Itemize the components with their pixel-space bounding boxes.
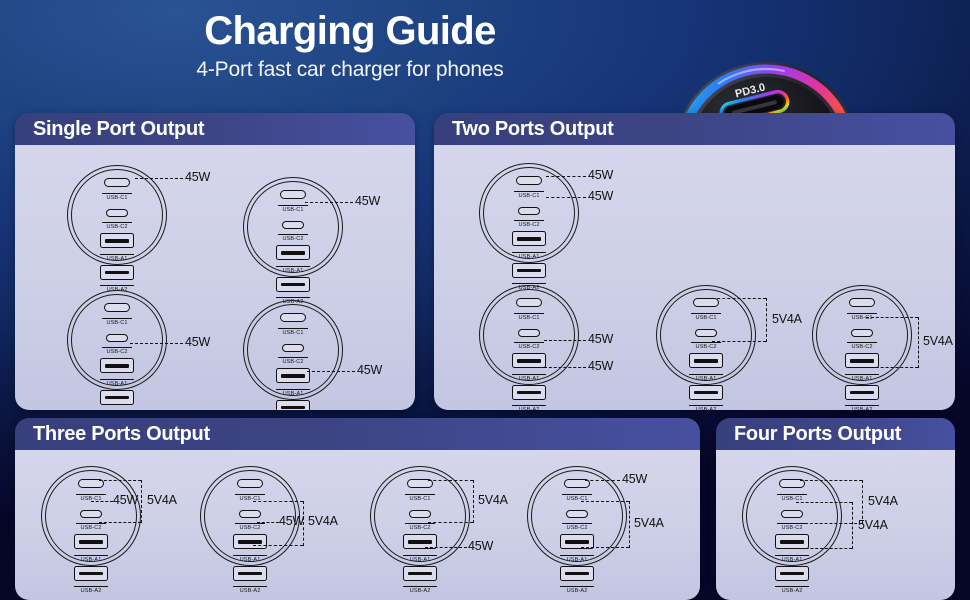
usb-a-port-icon — [100, 390, 134, 405]
leader-line — [585, 480, 620, 481]
panel-title-single: Single Port Output — [15, 113, 415, 145]
usb-a-port-icon — [775, 566, 809, 581]
charger-diagram: USB-C1 USB-C2 USB-A1 USB-A2 — [243, 300, 343, 400]
charger-ports: USB-C1 USB-C2 USB-A1 USB-A2 — [479, 172, 579, 292]
usb-a-port-icon — [689, 385, 723, 400]
usb-c-port-icon — [106, 209, 128, 217]
page-subtitle: 4-Port fast car charger for phones — [0, 52, 700, 82]
port-usb-a1: USB-A1 — [41, 534, 141, 564]
port-label-a2: USB-A2 — [403, 586, 437, 595]
port-usb-c2: USB-C2 — [243, 216, 343, 244]
port-label-a2: USB-A2 — [233, 586, 267, 595]
callout-5v4a: 5V4A — [868, 494, 898, 508]
port-label-a2: USB-A2 — [845, 405, 879, 410]
callout-45w: 45W — [588, 168, 613, 182]
leader-line — [305, 202, 353, 203]
leader-line — [130, 343, 183, 344]
usb-c-port-icon — [282, 221, 304, 229]
bracket-line — [629, 501, 630, 548]
charger-diagram: USB-C1 USB-C2 USB-A1 USB-A2 — [479, 163, 579, 263]
port-usb-a1: USB-A1 — [527, 534, 627, 564]
port-usb-a1: USB-A1 — [67, 233, 167, 263]
leader-line — [796, 548, 852, 549]
usb-a-port-icon — [74, 534, 108, 549]
port-usb-c1: USB-C1 — [200, 475, 300, 503]
leader-line — [866, 317, 918, 318]
port-label-a2: USB-A2 — [775, 586, 809, 595]
callout-5v4a: 5V4A — [772, 312, 802, 326]
port-usb-a1: USB-A1 — [479, 231, 579, 261]
port-usb-a1: USB-A1 — [67, 358, 167, 388]
port-usb-a2: USB-A2 — [527, 566, 627, 596]
usb-a-port-icon — [689, 353, 723, 368]
port-usb-c2: USB-C2 — [812, 324, 912, 352]
port-label-a2: USB-A2 — [74, 586, 108, 595]
port-usb-a1: USB-A1 — [200, 534, 300, 564]
callout-45w: 45W — [588, 189, 613, 203]
callout-45w: 45W — [185, 335, 210, 349]
port-label-c2: USB-C2 — [278, 357, 308, 366]
charger-diagram: USB-C1 USB-C2 USB-A1 USB-A2 — [527, 466, 627, 566]
port-label-c2: USB-C2 — [777, 523, 807, 532]
panel-two-ports-output: Two Ports Output USB-C1 USB-C2 USB-A1 US… — [434, 113, 955, 410]
port-label-a1: USB-A1 — [74, 555, 108, 564]
bracket-line — [303, 501, 304, 546]
usb-c-port-icon — [280, 190, 306, 199]
port-usb-a1: USB-A1 — [243, 368, 343, 398]
usb-c-port-icon — [518, 329, 540, 337]
port-label-c2: USB-C2 — [278, 234, 308, 243]
port-label-c2: USB-C2 — [691, 342, 721, 351]
leader-line — [546, 197, 586, 198]
callout-45w: 45W — [185, 170, 210, 184]
charger-diagram: USB-C1 USB-C2 USB-A1 USB-A2 — [67, 290, 167, 390]
port-label-a2: USB-A2 — [512, 405, 546, 410]
usb-c-port-icon — [282, 344, 304, 352]
usb-a-port-icon — [560, 566, 594, 581]
port-label-a1: USB-A1 — [276, 266, 310, 275]
bracket-line — [766, 298, 767, 342]
charger-ports: USB-C1 USB-C2 USB-A1 USB-A2 — [479, 294, 579, 410]
charging-guide-infographic: Charging Guide 4-Port fast car charger f… — [0, 0, 970, 600]
port-usb-a1: USB-A1 — [243, 245, 343, 275]
leader-line — [544, 340, 586, 341]
port-usb-a2: USB-A2 — [812, 385, 912, 411]
port-usb-a2: USB-A2 — [656, 385, 756, 411]
leader-line — [135, 178, 183, 179]
callout-45w: 45W — [279, 514, 304, 528]
panel-body-single: USB-C1 USB-C2 USB-A1 USB-A2 45W USB-C1 — [15, 145, 415, 410]
usb-a-port-icon — [100, 358, 134, 373]
panel-body-two: USB-C1 USB-C2 USB-A1 USB-A2 45W 45W USB-… — [434, 145, 955, 410]
leader-line — [428, 480, 473, 481]
usb-c-port-icon — [695, 329, 717, 337]
port-usb-a2: USB-A2 — [243, 400, 343, 411]
usb-c-port-icon — [781, 510, 803, 518]
charger-ports: USB-C1 USB-C2 USB-A1 USB-A2 — [243, 309, 343, 410]
callout-45w: 45W — [588, 332, 613, 346]
port-label-c1: USB-C1 — [278, 328, 308, 337]
leader-line — [866, 367, 918, 368]
charger-diagram: USB-C1 USB-C2 USB-A1 USB-A2 — [479, 285, 579, 385]
port-label-c1: USB-C1 — [514, 313, 544, 322]
usb-a-port-icon — [100, 233, 134, 248]
leader-line — [712, 298, 766, 299]
bracket-line — [852, 502, 853, 549]
port-usb-c2: USB-C2 — [67, 204, 167, 232]
port-label-c2: USB-C2 — [102, 222, 132, 231]
callout-5v4a: 5V4A — [308, 514, 338, 528]
leader-line — [307, 371, 355, 372]
port-label-a1: USB-A1 — [512, 374, 546, 383]
charger-diagram: USB-C1 USB-C2 USB-A1 USB-A2 — [742, 466, 842, 566]
port-label-a1: USB-A1 — [100, 379, 134, 388]
port-usb-c1: USB-C1 — [67, 299, 167, 327]
leader-line — [253, 545, 303, 546]
page-title: Charging Guide — [0, 0, 700, 52]
usb-a-port-icon — [74, 566, 108, 581]
port-usb-a1: USB-A1 — [656, 353, 756, 383]
port-usb-c2: USB-C2 — [479, 324, 579, 352]
charger-diagram: USB-C1 USB-C2 USB-A1 USB-A2 — [41, 466, 141, 566]
panel-single-port-output: Single Port Output USB-C1 USB-C2 USB-A1 … — [15, 113, 415, 410]
callout-45w: 45W — [113, 493, 138, 507]
usb-c-port-icon — [80, 510, 102, 518]
leader-line — [428, 522, 473, 523]
port-label-c2: USB-C2 — [405, 523, 435, 532]
charger-diagram: USB-C1 USB-C2 USB-A1 USB-A2 — [370, 466, 470, 566]
usb-a-port-icon — [100, 265, 134, 280]
usb-a-port-icon — [276, 277, 310, 292]
port-usb-a2: USB-A2 — [742, 566, 842, 596]
leader-line — [546, 176, 586, 177]
charger-diagram: USB-C1 USB-C2 USB-A1 USB-A2 — [243, 177, 343, 277]
usb-a-port-icon — [845, 385, 879, 400]
port-label-a1: USB-A1 — [560, 555, 594, 564]
leader-line — [581, 547, 629, 548]
port-usb-c2: USB-C2 — [742, 505, 842, 533]
usb-c-port-icon — [409, 510, 431, 518]
leader-line — [800, 480, 862, 481]
callout-45w: 45W — [355, 194, 380, 208]
callout-45w: 45W — [357, 363, 382, 377]
usb-c-port-icon — [518, 207, 540, 215]
port-label-a2: USB-A2 — [560, 586, 594, 595]
leader-line — [99, 522, 141, 523]
port-label-a1: USB-A1 — [403, 555, 437, 564]
port-label-c2: USB-C2 — [76, 523, 106, 532]
usb-c-port-icon — [237, 479, 263, 488]
port-label-a1: USB-A1 — [775, 555, 809, 564]
panel-four-ports-output: Four Ports Output USB-C1 USB-C2 USB-A1 U… — [716, 418, 955, 600]
port-label-a1: USB-A1 — [512, 252, 546, 261]
usb-c-port-icon — [516, 298, 542, 307]
usb-c-port-icon — [104, 178, 130, 187]
port-usb-c1: USB-C1 — [243, 309, 343, 337]
charger-ports: USB-C1 USB-C2 USB-A1 USB-A2 — [67, 174, 167, 294]
callout-5v4a: 5V4A — [147, 493, 177, 507]
port-label-c2: USB-C2 — [102, 347, 132, 356]
leader-line — [91, 501, 113, 502]
charger-ports: USB-C1 USB-C2 USB-A1 USB-A2 — [527, 475, 627, 595]
usb-c-port-icon — [693, 298, 719, 307]
port-usb-c2: USB-C2 — [479, 202, 579, 230]
usb-a-port-icon — [233, 534, 267, 549]
port-label-a1: USB-A1 — [233, 555, 267, 564]
port-label-c2: USB-C2 — [562, 523, 592, 532]
callout-5v4a: 5V4A — [858, 518, 888, 532]
port-label-a1: USB-A1 — [689, 374, 723, 383]
port-label-a1: USB-A1 — [100, 254, 134, 263]
usb-a-port-icon — [775, 534, 809, 549]
usb-a-port-icon — [512, 231, 546, 246]
port-usb-c2: USB-C2 — [527, 505, 627, 533]
bracket-line — [473, 480, 474, 523]
port-label-c1: USB-C1 — [102, 318, 132, 327]
callout-5v4a: 5V4A — [923, 334, 953, 348]
usb-c-port-icon — [104, 303, 130, 312]
port-label-c1: USB-C1 — [278, 205, 308, 214]
port-usb-a2: USB-A2 — [41, 566, 141, 596]
usb-c-port-icon — [516, 176, 542, 185]
port-label-c2: USB-C2 — [514, 220, 544, 229]
port-label-c2: USB-C2 — [514, 342, 544, 351]
port-label-a1: USB-A1 — [276, 389, 310, 398]
usb-a-port-icon — [233, 566, 267, 581]
usb-c-port-icon — [280, 313, 306, 322]
port-usb-a2: USB-A2 — [479, 385, 579, 411]
leader-line — [712, 341, 766, 342]
panel-title-four: Four Ports Output — [716, 418, 955, 450]
header: Charging Guide 4-Port fast car charger f… — [0, 0, 700, 82]
port-usb-a2: USB-A2 — [200, 566, 300, 596]
usb-c-port-icon — [566, 510, 588, 518]
bracket-line — [918, 317, 919, 368]
port-usb-c2: USB-C2 — [656, 324, 756, 352]
panel-title-two: Two Ports Output — [434, 113, 955, 145]
panel-three-ports-output: Three Ports Output USB-C1 USB-C2 USB-A1 … — [15, 418, 700, 600]
port-usb-c1: USB-C1 — [479, 294, 579, 322]
callout-5v4a: 5V4A — [634, 516, 664, 530]
panel-title-three: Three Ports Output — [15, 418, 700, 450]
charger-ports: USB-C1 USB-C2 USB-A1 USB-A2 — [200, 475, 300, 595]
leader-line — [425, 547, 467, 548]
leader-line — [257, 522, 279, 523]
panel-body-three: USB-C1 USB-C2 USB-A1 USB-A2 45W 5V4A — [15, 450, 700, 600]
port-label-a2: USB-A2 — [689, 405, 723, 410]
charger-diagram: USB-C1 USB-C2 USB-A1 USB-A2 — [812, 285, 912, 385]
port-label-c2: USB-C2 — [847, 342, 877, 351]
bracket-line — [141, 480, 142, 523]
callout-45w: 45W — [468, 539, 493, 553]
usb-a-port-icon — [512, 353, 546, 368]
callout-5v4a: 5V4A — [478, 493, 508, 507]
leader-line — [253, 501, 303, 502]
usb-c-port-icon — [849, 298, 875, 307]
charger-diagram: USB-C1 USB-C2 USB-A1 USB-A2 — [656, 285, 756, 385]
port-label-a1: USB-A1 — [845, 374, 879, 383]
charger-ports: USB-C1 USB-C2 USB-A1 USB-A2 — [370, 475, 470, 595]
usb-a-port-icon — [276, 368, 310, 383]
port-usb-c2: USB-C2 — [243, 339, 343, 367]
port-label-c1: USB-C1 — [102, 193, 132, 202]
port-usb-c1: USB-C1 — [243, 186, 343, 214]
port-usb-a1: USB-A1 — [370, 534, 470, 564]
leader-line — [796, 502, 852, 503]
leader-line — [581, 501, 629, 502]
port-usb-a2: USB-A2 — [67, 390, 167, 411]
charger-ports: USB-C1 USB-C2 USB-A1 USB-A2 — [742, 475, 842, 595]
callout-45w: 45W — [622, 472, 647, 486]
charger-ports: USB-C1 USB-C2 USB-A1 USB-A2 — [67, 299, 167, 410]
usb-c-port-icon — [106, 334, 128, 342]
callout-45w: 45W — [588, 359, 613, 373]
leader-line — [544, 367, 586, 368]
port-label-c1: USB-C1 — [405, 494, 435, 503]
usb-c-port-icon — [239, 510, 261, 518]
port-label-c2: USB-C2 — [235, 523, 265, 532]
port-label-c1: USB-C1 — [514, 191, 544, 200]
charger-ports: USB-C1 USB-C2 USB-A1 USB-A2 — [243, 186, 343, 306]
usb-a-port-icon — [276, 245, 310, 260]
charger-ports: USB-C1 USB-C2 USB-A1 USB-A2 — [812, 294, 912, 410]
charger-diagram: USB-C1 USB-C2 USB-A1 USB-A2 — [67, 165, 167, 265]
port-usb-c2: USB-C2 — [370, 505, 470, 533]
usb-a-port-icon — [276, 400, 310, 411]
leader-line — [99, 480, 141, 481]
port-label-c1: USB-C1 — [691, 313, 721, 322]
panel-body-four: USB-C1 USB-C2 USB-A1 USB-A2 5V4A 5V4A — [716, 450, 955, 600]
usb-a-port-icon — [512, 385, 546, 400]
usb-a-port-icon — [512, 263, 546, 278]
charger-ports: USB-C1 USB-C2 USB-A1 USB-A2 — [656, 294, 756, 410]
port-usb-c2: USB-C2 — [41, 505, 141, 533]
usb-a-port-icon — [403, 566, 437, 581]
usb-c-port-icon — [851, 329, 873, 337]
port-usb-a2: USB-A2 — [370, 566, 470, 596]
usb-a-port-icon — [845, 353, 879, 368]
